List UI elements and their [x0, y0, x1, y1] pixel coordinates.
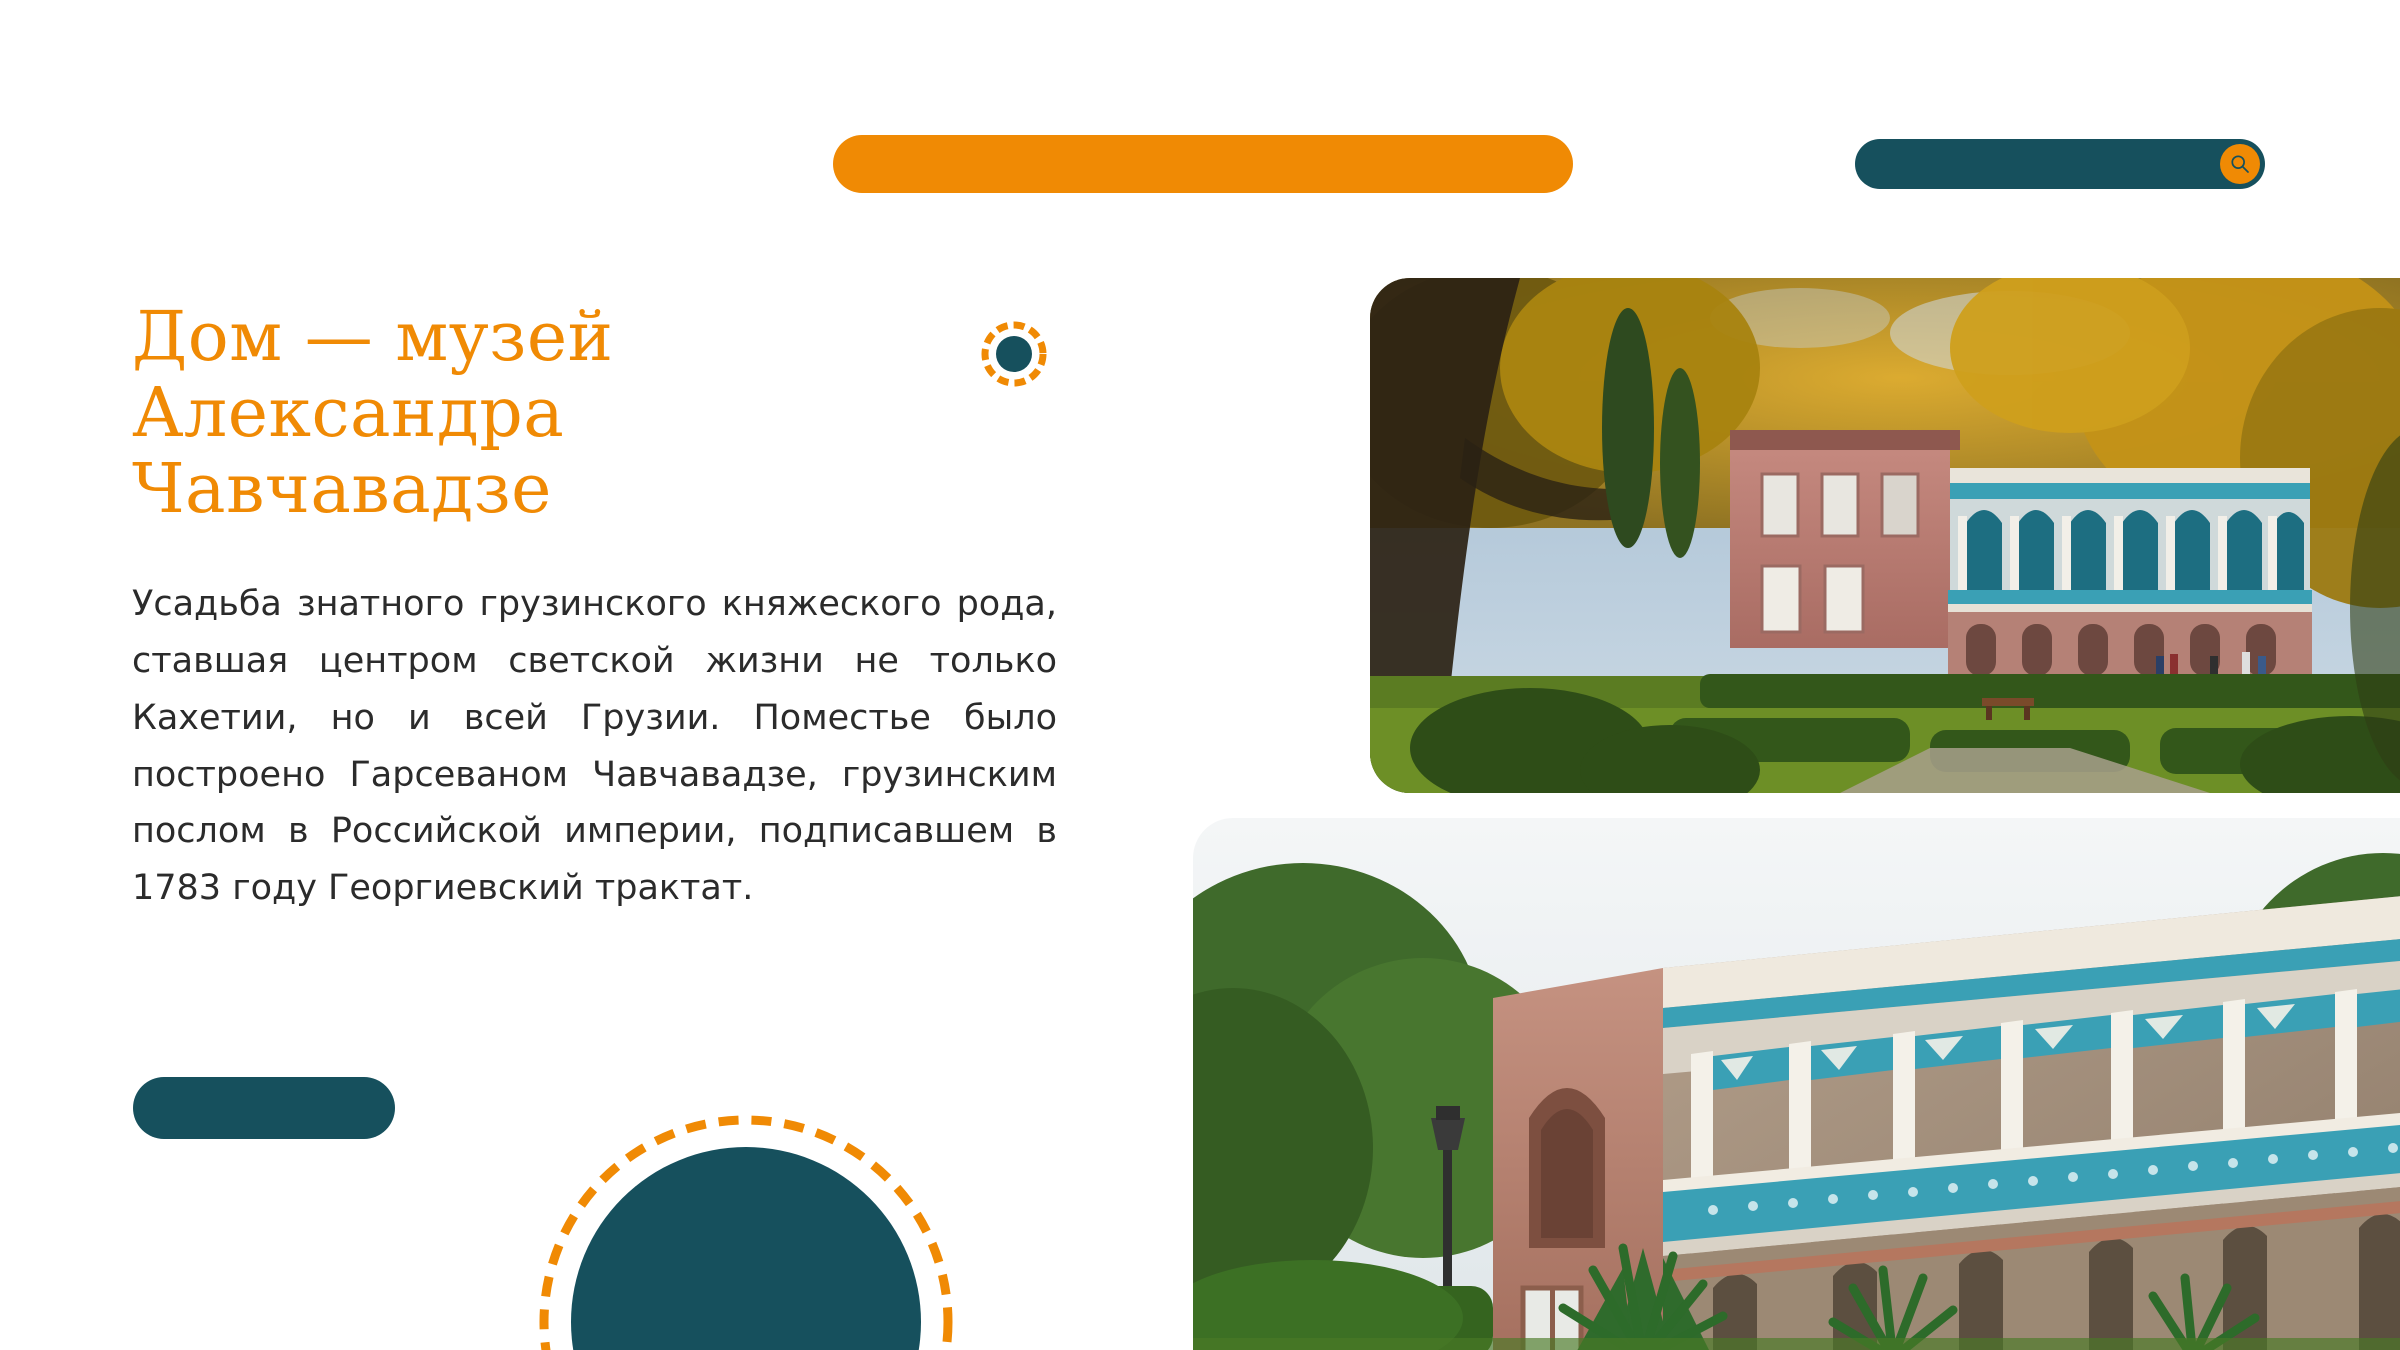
photo-museum-exterior: Дом-музей Александра Чавчавадзе, розовый… [1370, 278, 2400, 793]
body-paragraph: Усадьба знатного грузинского княжеского … [132, 576, 1057, 916]
top-orange-banner[interactable] [833, 135, 1573, 193]
page-title: Дом — музей Александра Чавчавадзе [132, 300, 772, 528]
left-content-column: Дом — музей Александра Чавчавадзе Усадьб… [132, 300, 1062, 917]
search-bar[interactable] [1855, 139, 2265, 189]
teal-pill-button[interactable] [133, 1077, 395, 1139]
search-icon [2229, 153, 2251, 175]
dashed-ring-circle [536, 1112, 956, 1350]
search-button[interactable] [2220, 144, 2260, 184]
photo-museum-veranda: Усадьба Чавчавадзе, каменное здание с ре… [1193, 818, 2400, 1350]
presentation-slide: Дом — музей Александра Чавчавадзе Усадьб… [0, 0, 2400, 1350]
target-dot-icon [978, 318, 1050, 390]
